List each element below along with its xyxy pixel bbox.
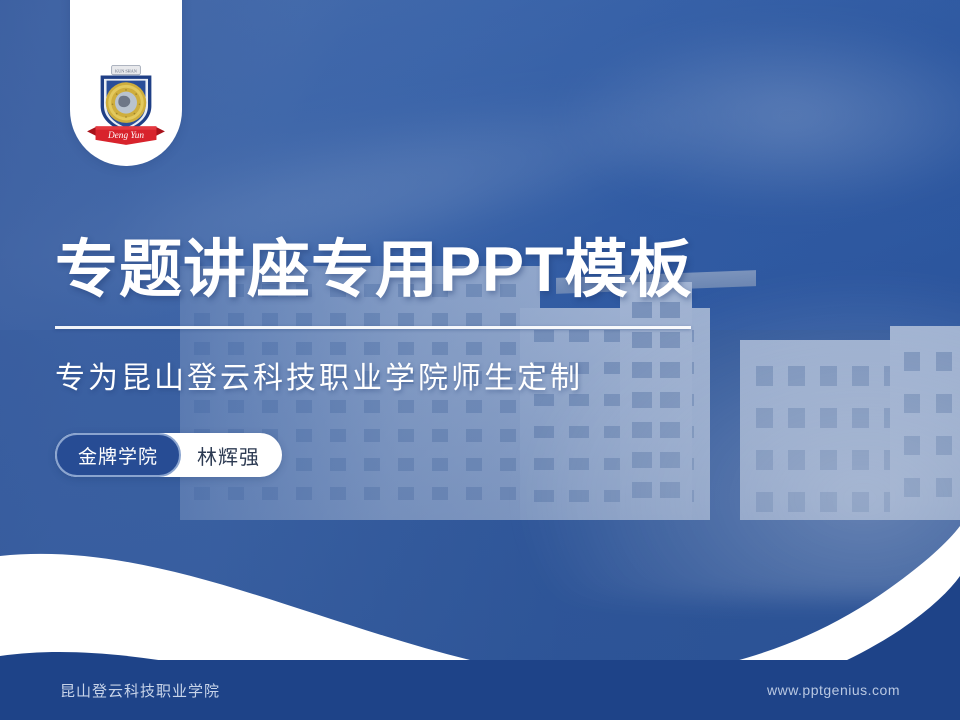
university-crest-icon: KUN SHAN Deng Yun bbox=[83, 62, 169, 150]
presentation-slide: KUN SHAN Deng Yun bbox=[0, 0, 960, 720]
logo-badge-holder: KUN SHAN Deng Yun bbox=[70, 0, 182, 166]
slide-content: 专题讲座专用PPT模板 专为昆山登云科技职业学院师生定制 金牌学院 林辉强 bbox=[55, 236, 775, 477]
slide-footer: 昆山登云科技职业学院 www.pptgenius.com bbox=[0, 660, 960, 720]
badge-bar: 金牌学院 林辉强 bbox=[55, 433, 282, 477]
footer-website[interactable]: www.pptgenius.com bbox=[767, 682, 900, 698]
presenter-name: 林辉强 bbox=[197, 441, 260, 470]
page-title: 专题讲座专用PPT模板 bbox=[55, 236, 775, 304]
status-badge: 金牌学院 bbox=[55, 433, 181, 477]
page-subtitle: 专为昆山登云科技职业学院师生定制 bbox=[55, 353, 775, 397]
crest-ribbon-text: Deng Yun bbox=[107, 131, 144, 141]
footer-institution: 昆山登云科技职业学院 bbox=[60, 680, 220, 701]
svg-text:KUN SHAN: KUN SHAN bbox=[115, 69, 137, 74]
title-divider bbox=[55, 326, 691, 329]
